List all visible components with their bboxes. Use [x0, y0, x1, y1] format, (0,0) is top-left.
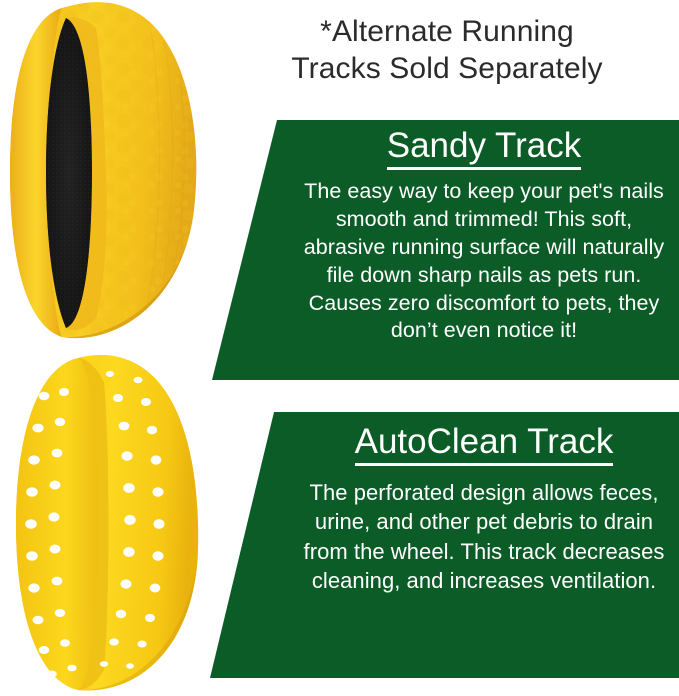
- product-feature-graphic: *Alternate Running Tracks Sold Separatel…: [0, 0, 679, 696]
- autoclean-track-info-panel: AutoClean Track The perforated design al…: [190, 412, 679, 678]
- page-title: *Alternate Running Tracks Sold Separatel…: [215, 14, 679, 87]
- autoclean-track-ring-illustration: [0, 352, 205, 696]
- autoclean-track-product-image: [0, 352, 205, 696]
- sandy-track-heading: Sandy Track: [387, 128, 582, 170]
- sandy-track-description: The easy way to keep your pet's nails sm…: [295, 178, 673, 346]
- sandy-track-info-panel: Sandy Track The easy way to keep your pe…: [190, 120, 679, 380]
- autoclean-track-heading: AutoClean Track: [355, 424, 614, 466]
- sandy-track-product-image: [0, 0, 200, 345]
- autoclean-track-description: The perforated design allows feces, urin…: [295, 478, 673, 596]
- sandy-track-ring-illustration: [0, 0, 200, 345]
